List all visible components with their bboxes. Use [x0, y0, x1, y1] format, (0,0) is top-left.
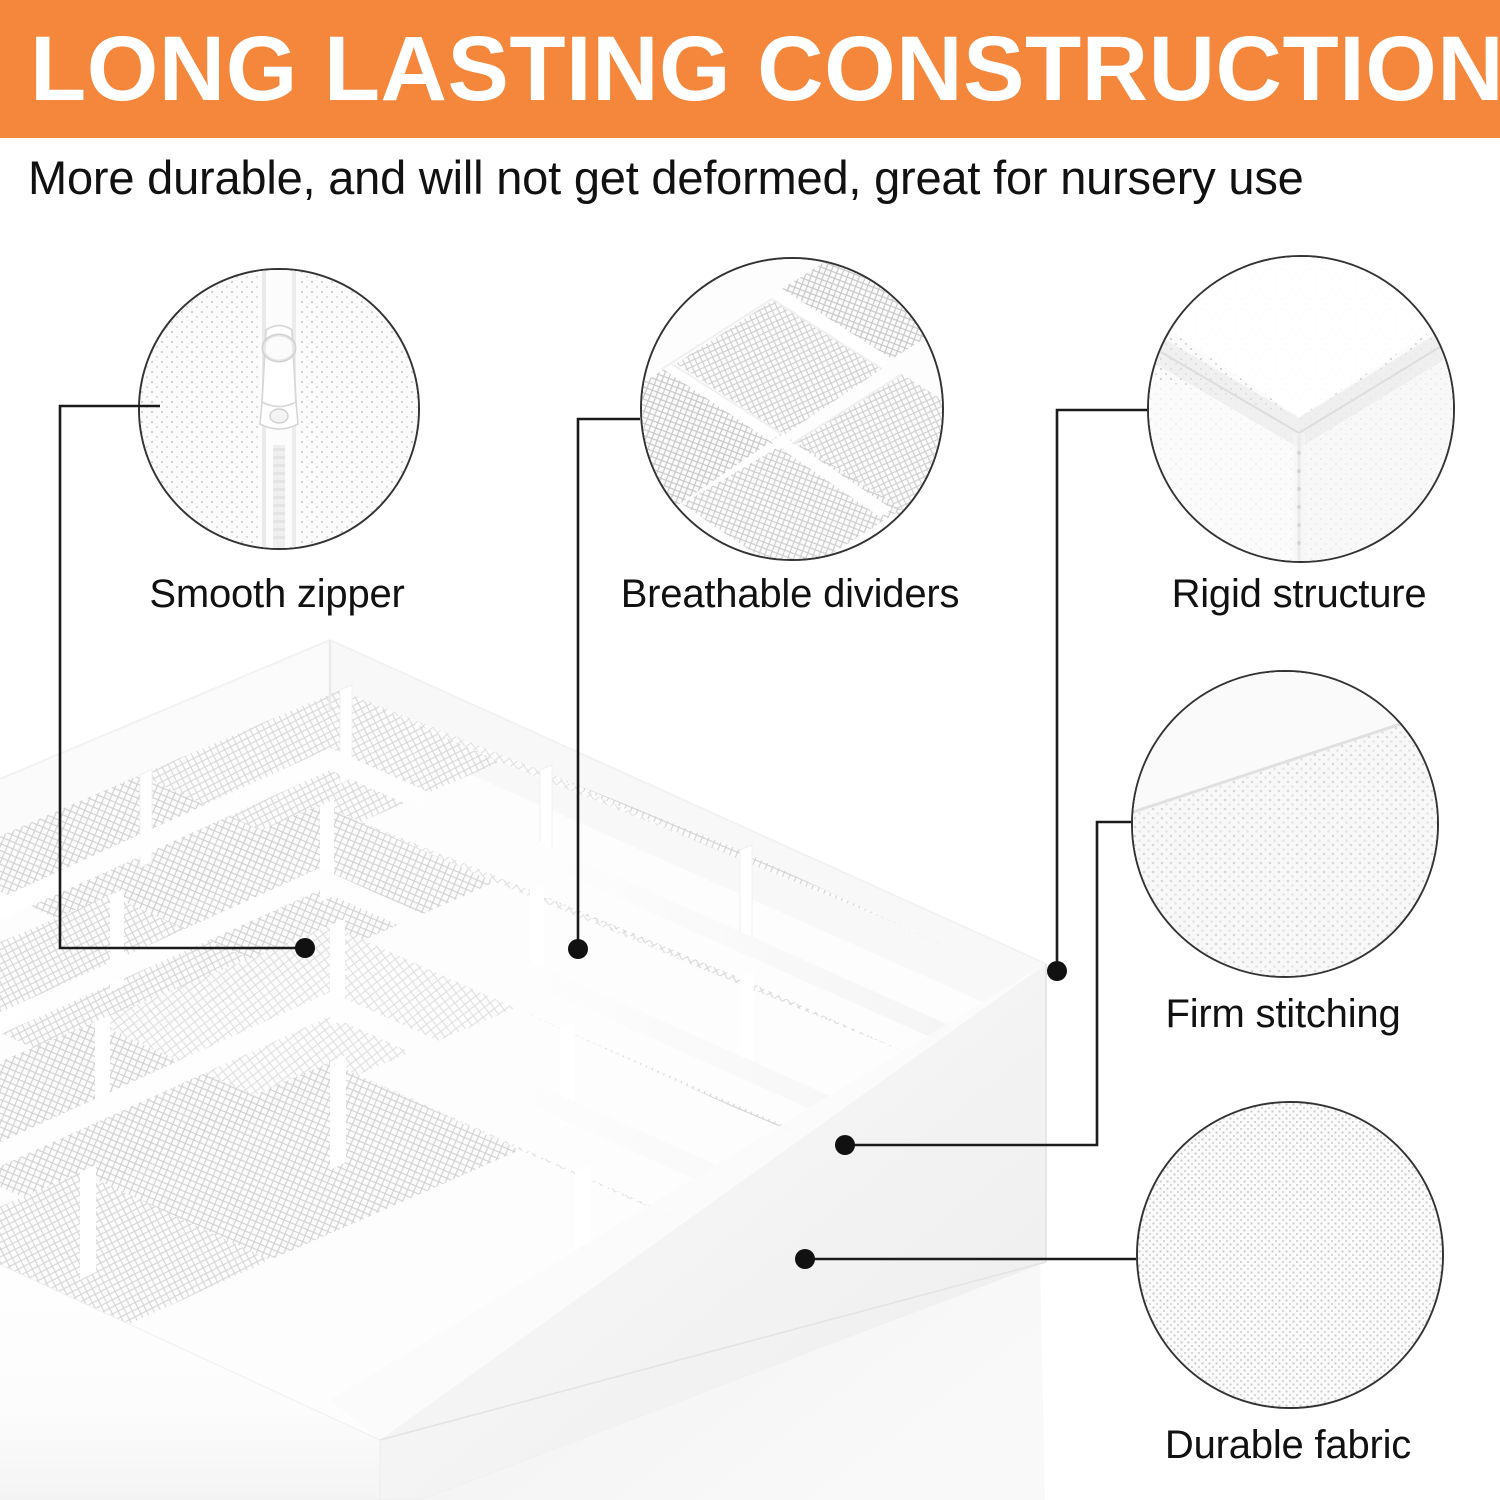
- callout-label-firm-stitching: Firm stitching: [1093, 992, 1473, 1037]
- callout-label-durable-fabric: Durable fabric: [1098, 1423, 1478, 1468]
- infographic-page: LONG LASTING CONSTRUCTION More durable, …: [0, 0, 1500, 1500]
- breathable-dividers-photo: [640, 257, 944, 561]
- callout-label-smooth-zipper: Smooth zipper: [77, 572, 477, 617]
- rigid-structure-photo: [1147, 255, 1455, 563]
- callout-label-rigid-structure: Rigid structure: [1099, 572, 1499, 617]
- firm-stitching-photo: [1131, 670, 1439, 978]
- callout-label-breathable-dividers: Breathable dividers: [560, 572, 1020, 617]
- smooth-zipper-photo: [138, 268, 420, 550]
- durable-fabric-photo: [1136, 1101, 1444, 1409]
